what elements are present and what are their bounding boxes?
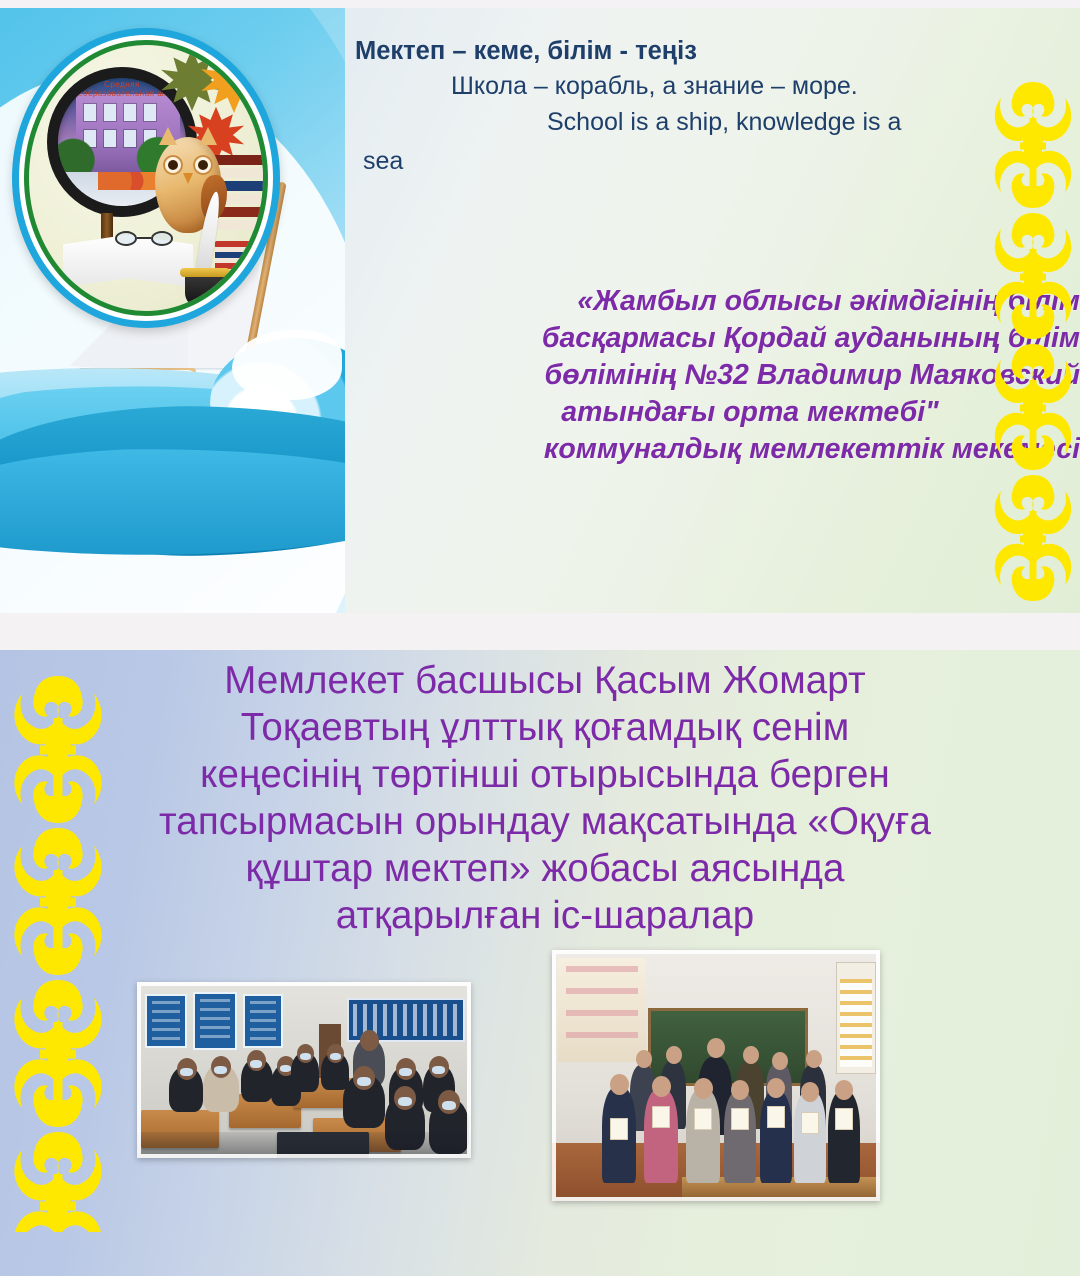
school-emblem: Средняя общеобразовательная школа [12,28,280,328]
headline-line: кеңесінің төртінші отырысында берген [40,752,1050,799]
school-official-name: «Жамбыл облысы әкімдігінің білім басқарм… [420,283,1080,468]
quote-english-wrap: sea [363,144,1055,180]
school-name-line: басқармасы Қордай ауданының білім [420,320,1080,357]
students-group [98,172,162,190]
kazakh-ornament-left [8,672,108,1232]
quote-kazakh: Мектеп – кеме, білім - теңіз [355,33,1055,69]
slide-bottom: Мемлекет басшысы Қасым Жомарт Тоқаевтың … [0,650,1080,1276]
bottom-headline: Мемлекет басшысы Қасым Жомарт Тоқаевтың … [40,658,1050,940]
kazakh-ornament-right [990,78,1076,608]
headline-line: құштар мектеп» жобасы аясында [40,846,1050,893]
inkpot-icon [185,273,225,307]
school-name-line: «Жамбыл облысы әкімдігінің білім [420,283,1080,320]
school-name-line: коммуналдық мемлекеттік мекемесі [420,431,1080,468]
presentation-page: ✝ ~ ~ [0,0,1080,1276]
school-name-line: бөлімінің №32 Владимир Маяковский [420,357,1080,394]
photo-group-with-certificates [552,950,880,1201]
slide-divider [0,613,1080,650]
emblem-face: Средняя общеобразовательная школа [29,45,263,311]
quote-block: Мектеп – кеме, білім - теңіз Школа – кор… [355,33,1055,180]
headline-line: Тоқаевтың ұлттық қоғамдық сенім [40,705,1050,752]
photo-classroom-students [137,982,471,1158]
headline-line: Мемлекет басшысы Қасым Жомарт [40,658,1050,705]
quote-russian: Школа – корабль, а знание – море. [355,69,1055,105]
headline-line: тапсырмасын орындау мақсатында «Оқуға [40,799,1050,846]
quote-english: School is a ship, knowledge is a [355,105,1055,141]
glasses-icon [115,231,173,249]
slide-top: ✝ ~ ~ [0,8,1080,613]
wave-foam [232,330,342,400]
school-name-line: атындағы орта мектебі" [420,394,1080,431]
headline-line: атқарылған іс-шаралар [40,893,1050,940]
